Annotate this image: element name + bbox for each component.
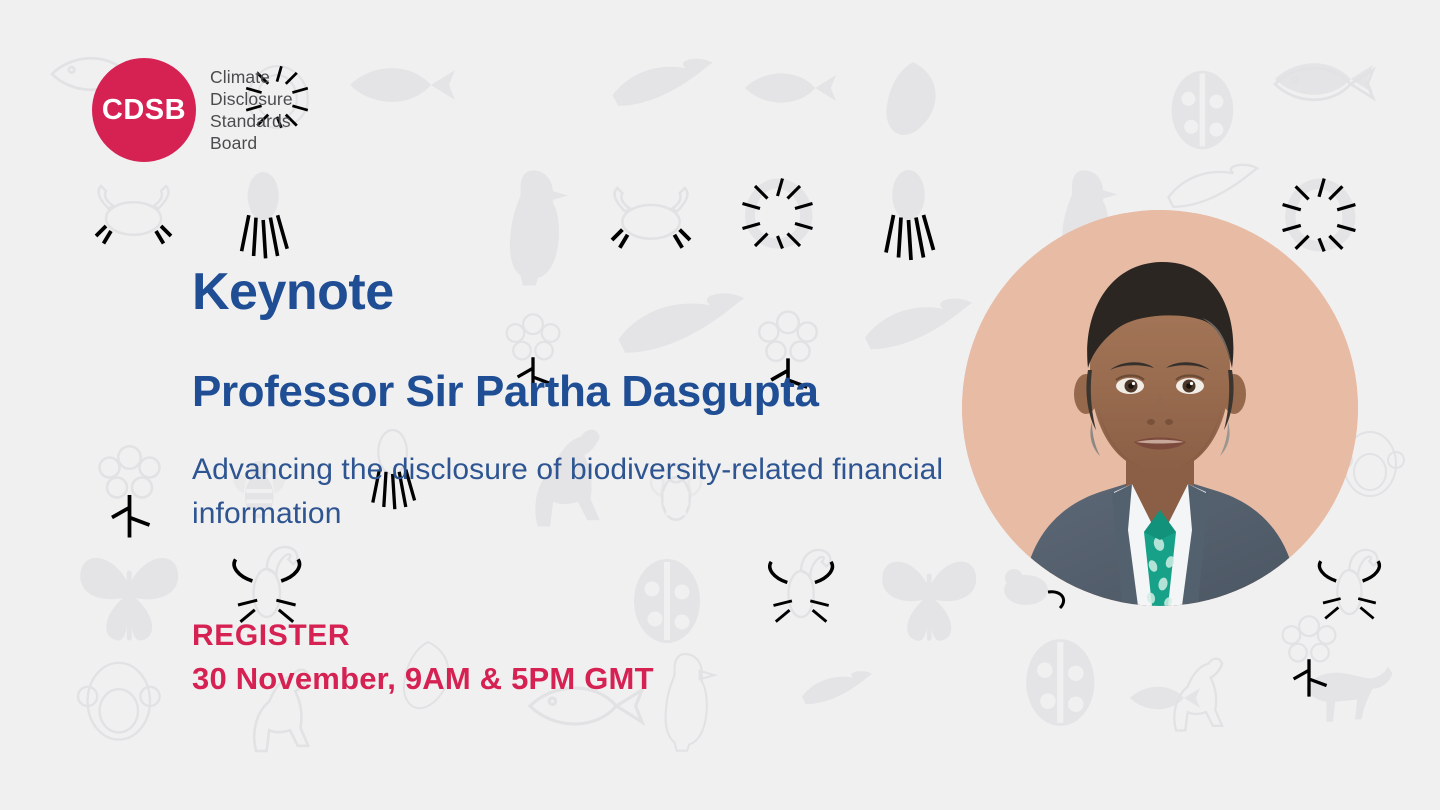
- cdsb-logo-mark-text: CDSB: [102, 96, 186, 125]
- logo-word-line-1: Climate: [210, 66, 293, 88]
- talk-topic: Advancing the disclosure of biodiversity…: [192, 448, 944, 537]
- event-promo-poster: CDSB Climate Disclosure Standards Board …: [0, 0, 1440, 810]
- speaker-name: Professor Sir Partha Dasgupta: [192, 368, 952, 416]
- register-datetime: 30 November, 9AM & 5PM GMT: [192, 660, 654, 697]
- headline-block: Keynote Professor Sir Partha Dasgupta Ad…: [192, 265, 952, 537]
- logo-word-line-2: Disclosure: [210, 88, 293, 110]
- cdsb-logo-wordmark: Climate Disclosure Standards Board: [210, 66, 293, 155]
- register-label[interactable]: REGISTER: [192, 618, 654, 654]
- keynote-eyebrow: Keynote: [192, 265, 952, 320]
- logo-word-line-4: Board: [210, 132, 293, 154]
- cdsb-logo: CDSB Climate Disclosure Standards Board: [92, 58, 293, 162]
- speaker-portrait: [962, 210, 1358, 606]
- cdsb-logo-mark: CDSB: [92, 58, 196, 162]
- register-block[interactable]: REGISTER 30 November, 9AM & 5PM GMT: [192, 618, 654, 697]
- logo-word-line-3: Standards: [210, 110, 293, 132]
